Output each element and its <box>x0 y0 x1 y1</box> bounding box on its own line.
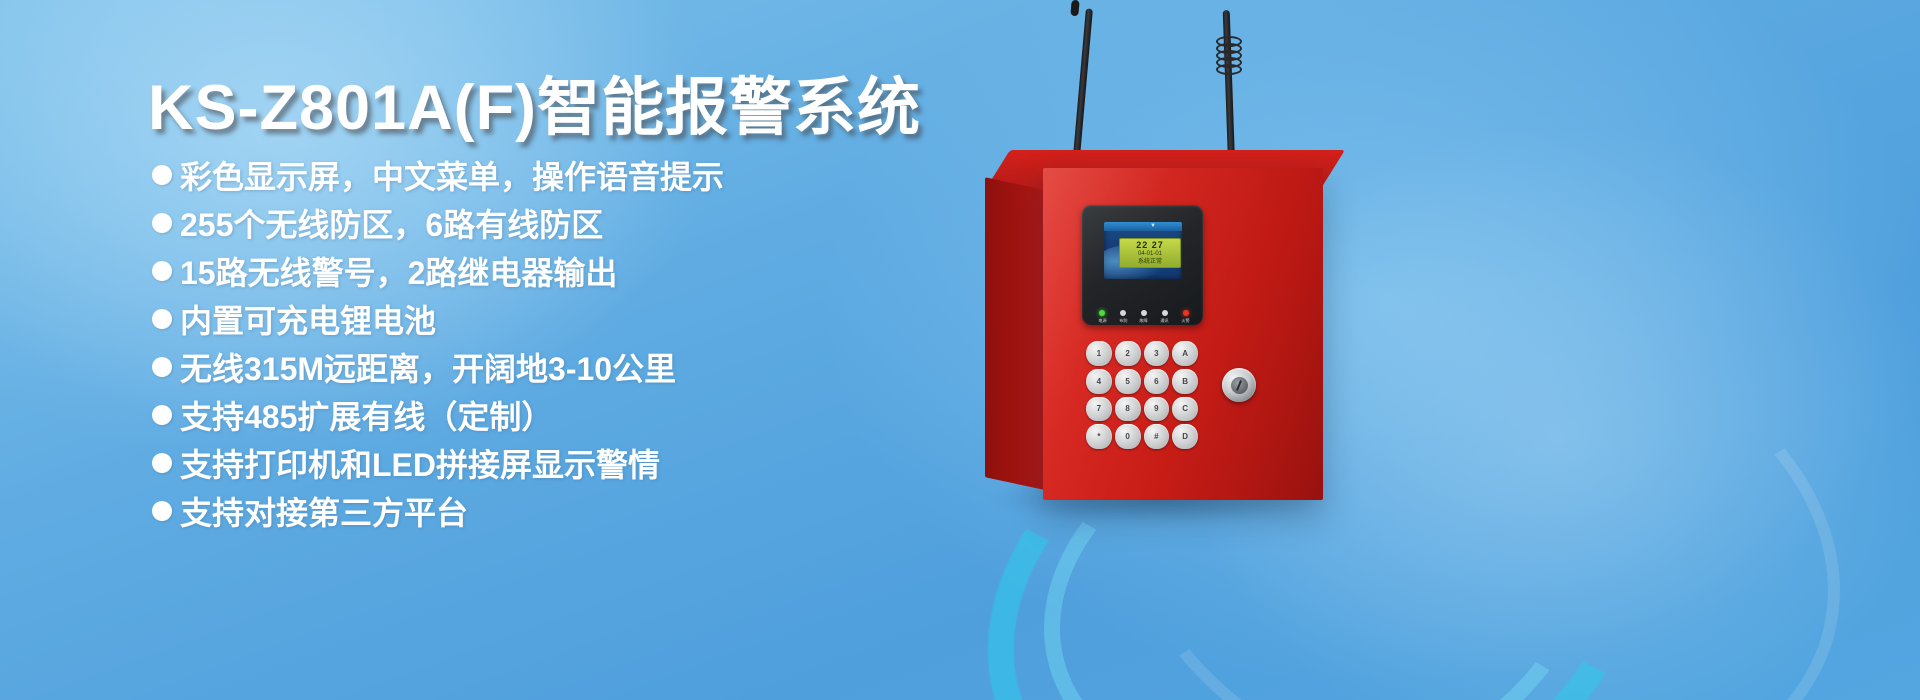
lcd-date: 04-01-01 <box>1138 250 1162 258</box>
page-title: KS-Z801A(F)智能报警系统 <box>148 57 921 148</box>
lcd-status-bar: ▼ <box>1104 222 1182 231</box>
led-label: 电源 <box>1098 318 1106 324</box>
keypad-key[interactable]: 3 <box>1144 341 1170 366</box>
led-indicator-icon <box>1120 310 1126 316</box>
feature-text: 支持打印机和LED拼接屏显示警情 <box>180 443 660 487</box>
cylinder-lock-icon[interactable] <box>1222 368 1256 402</box>
led-label: 通讯 <box>1161 318 1169 324</box>
lcd-time: 22 27 <box>1136 240 1164 250</box>
signal-icon: ▼ <box>1150 223 1156 229</box>
feature-text: 15路无线警号，2路继电器输出 <box>180 251 617 295</box>
list-item: 15路无线警号，2路继电器输出 <box>152 251 952 299</box>
feature-list: 彩色显示屏，中文菜单，操作语音提示 255个无线防区，6路有线防区 15路无线警… <box>152 155 952 539</box>
bullet-circle-icon <box>152 261 172 281</box>
lcd-screen: ▼ 22 27 04-01-01 系统正常 <box>1104 222 1182 279</box>
feature-text: 无线315M远距离，开阔地3-10公里 <box>180 347 676 391</box>
led-indicator-icon <box>1162 310 1168 316</box>
feature-text: 彩色显示屏，中文菜单，操作语音提示 <box>180 155 724 199</box>
feature-text: 255个无线防区，6路有线防区 <box>180 203 603 247</box>
list-item: 支持打印机和LED拼接屏显示警情 <box>152 443 952 491</box>
antenna-coil <box>1216 36 1238 76</box>
lock-core <box>1231 377 1248 394</box>
keypad-key[interactable]: 6 <box>1144 369 1170 394</box>
led-label: 布防 <box>1119 318 1127 324</box>
led-indicator-icon <box>1183 310 1189 316</box>
keypad-key[interactable]: B <box>1172 369 1198 394</box>
keypad-key[interactable]: D <box>1172 424 1198 449</box>
bullet-circle-icon <box>152 165 172 185</box>
feature-text: 支持485扩展有线（定制） <box>180 395 553 439</box>
enclosure-side-face <box>985 177 1045 490</box>
led-indicator-icon <box>1141 310 1147 316</box>
keypad-key[interactable]: # <box>1144 424 1170 449</box>
bullet-circle-icon <box>152 309 172 329</box>
list-item: 无线315M远距离，开阔地3-10公里 <box>152 347 952 395</box>
keypad-key[interactable]: 8 <box>1115 397 1141 422</box>
led-label: 故障 <box>1140 318 1148 324</box>
lcd-info-panel: 22 27 04-01-01 系统正常 <box>1119 238 1181 268</box>
bullet-circle-icon <box>152 213 172 233</box>
list-item: 彩色显示屏，中文菜单，操作语音提示 <box>152 155 952 203</box>
list-item: 支持对接第三方平台 <box>152 491 952 539</box>
feature-text: 内置可充电锂电池 <box>180 299 436 343</box>
bullet-circle-icon <box>152 357 172 377</box>
antenna-right-icon <box>1223 10 1235 162</box>
antenna-left-icon <box>1072 8 1093 168</box>
keypad-key[interactable]: C <box>1172 397 1198 422</box>
status-badge: 电源 <box>1092 310 1113 324</box>
lcd-status: 系统正常 <box>1138 258 1162 266</box>
keypad-key[interactable]: 1 <box>1086 341 1112 366</box>
status-badge: 通讯 <box>1154 310 1175 324</box>
keypad-key[interactable]: 7 <box>1086 397 1112 422</box>
bullet-circle-icon <box>152 453 172 473</box>
bullet-circle-icon <box>152 405 172 425</box>
keypad[interactable]: 1 2 3 A 4 5 6 B 7 8 9 C * 0 # D <box>1086 341 1198 449</box>
keypad-key[interactable]: 4 <box>1086 369 1112 394</box>
led-label: 火警 <box>1181 318 1189 324</box>
status-badge: 故障 <box>1134 310 1155 324</box>
keypad-key[interactable]: 9 <box>1144 397 1170 422</box>
keypad-key[interactable]: 5 <box>1115 369 1141 394</box>
lock-keyhole <box>1236 380 1242 391</box>
keypad-key[interactable]: 0 <box>1115 424 1141 449</box>
led-indicator-icon <box>1099 310 1105 316</box>
list-item: 支持485扩展有线（定制） <box>152 395 952 443</box>
keypad-key[interactable]: 2 <box>1115 341 1141 366</box>
feature-text: 支持对接第三方平台 <box>180 491 468 535</box>
indicator-led-row: 电源 布防 故障 通讯 火警 <box>1092 310 1196 326</box>
keypad-key[interactable]: * <box>1086 424 1112 449</box>
status-badge: 火警 <box>1175 310 1196 324</box>
text-content: KS-Z801A(F)智能报警系统 彩色显示屏，中文菜单，操作语音提示 255个… <box>0 0 960 700</box>
list-item: 内置可充电锂电池 <box>152 299 952 347</box>
antenna-left-tip <box>1070 0 1079 16</box>
list-item: 255个无线防区，6路有线防区 <box>152 203 952 251</box>
bullet-circle-icon <box>152 501 172 521</box>
status-badge: 布防 <box>1113 310 1134 324</box>
keypad-key[interactable]: A <box>1172 341 1198 366</box>
product-banner: KS-Z801A(F)智能报警系统 彩色显示屏，中文菜单，操作语音提示 255个… <box>0 0 1920 700</box>
